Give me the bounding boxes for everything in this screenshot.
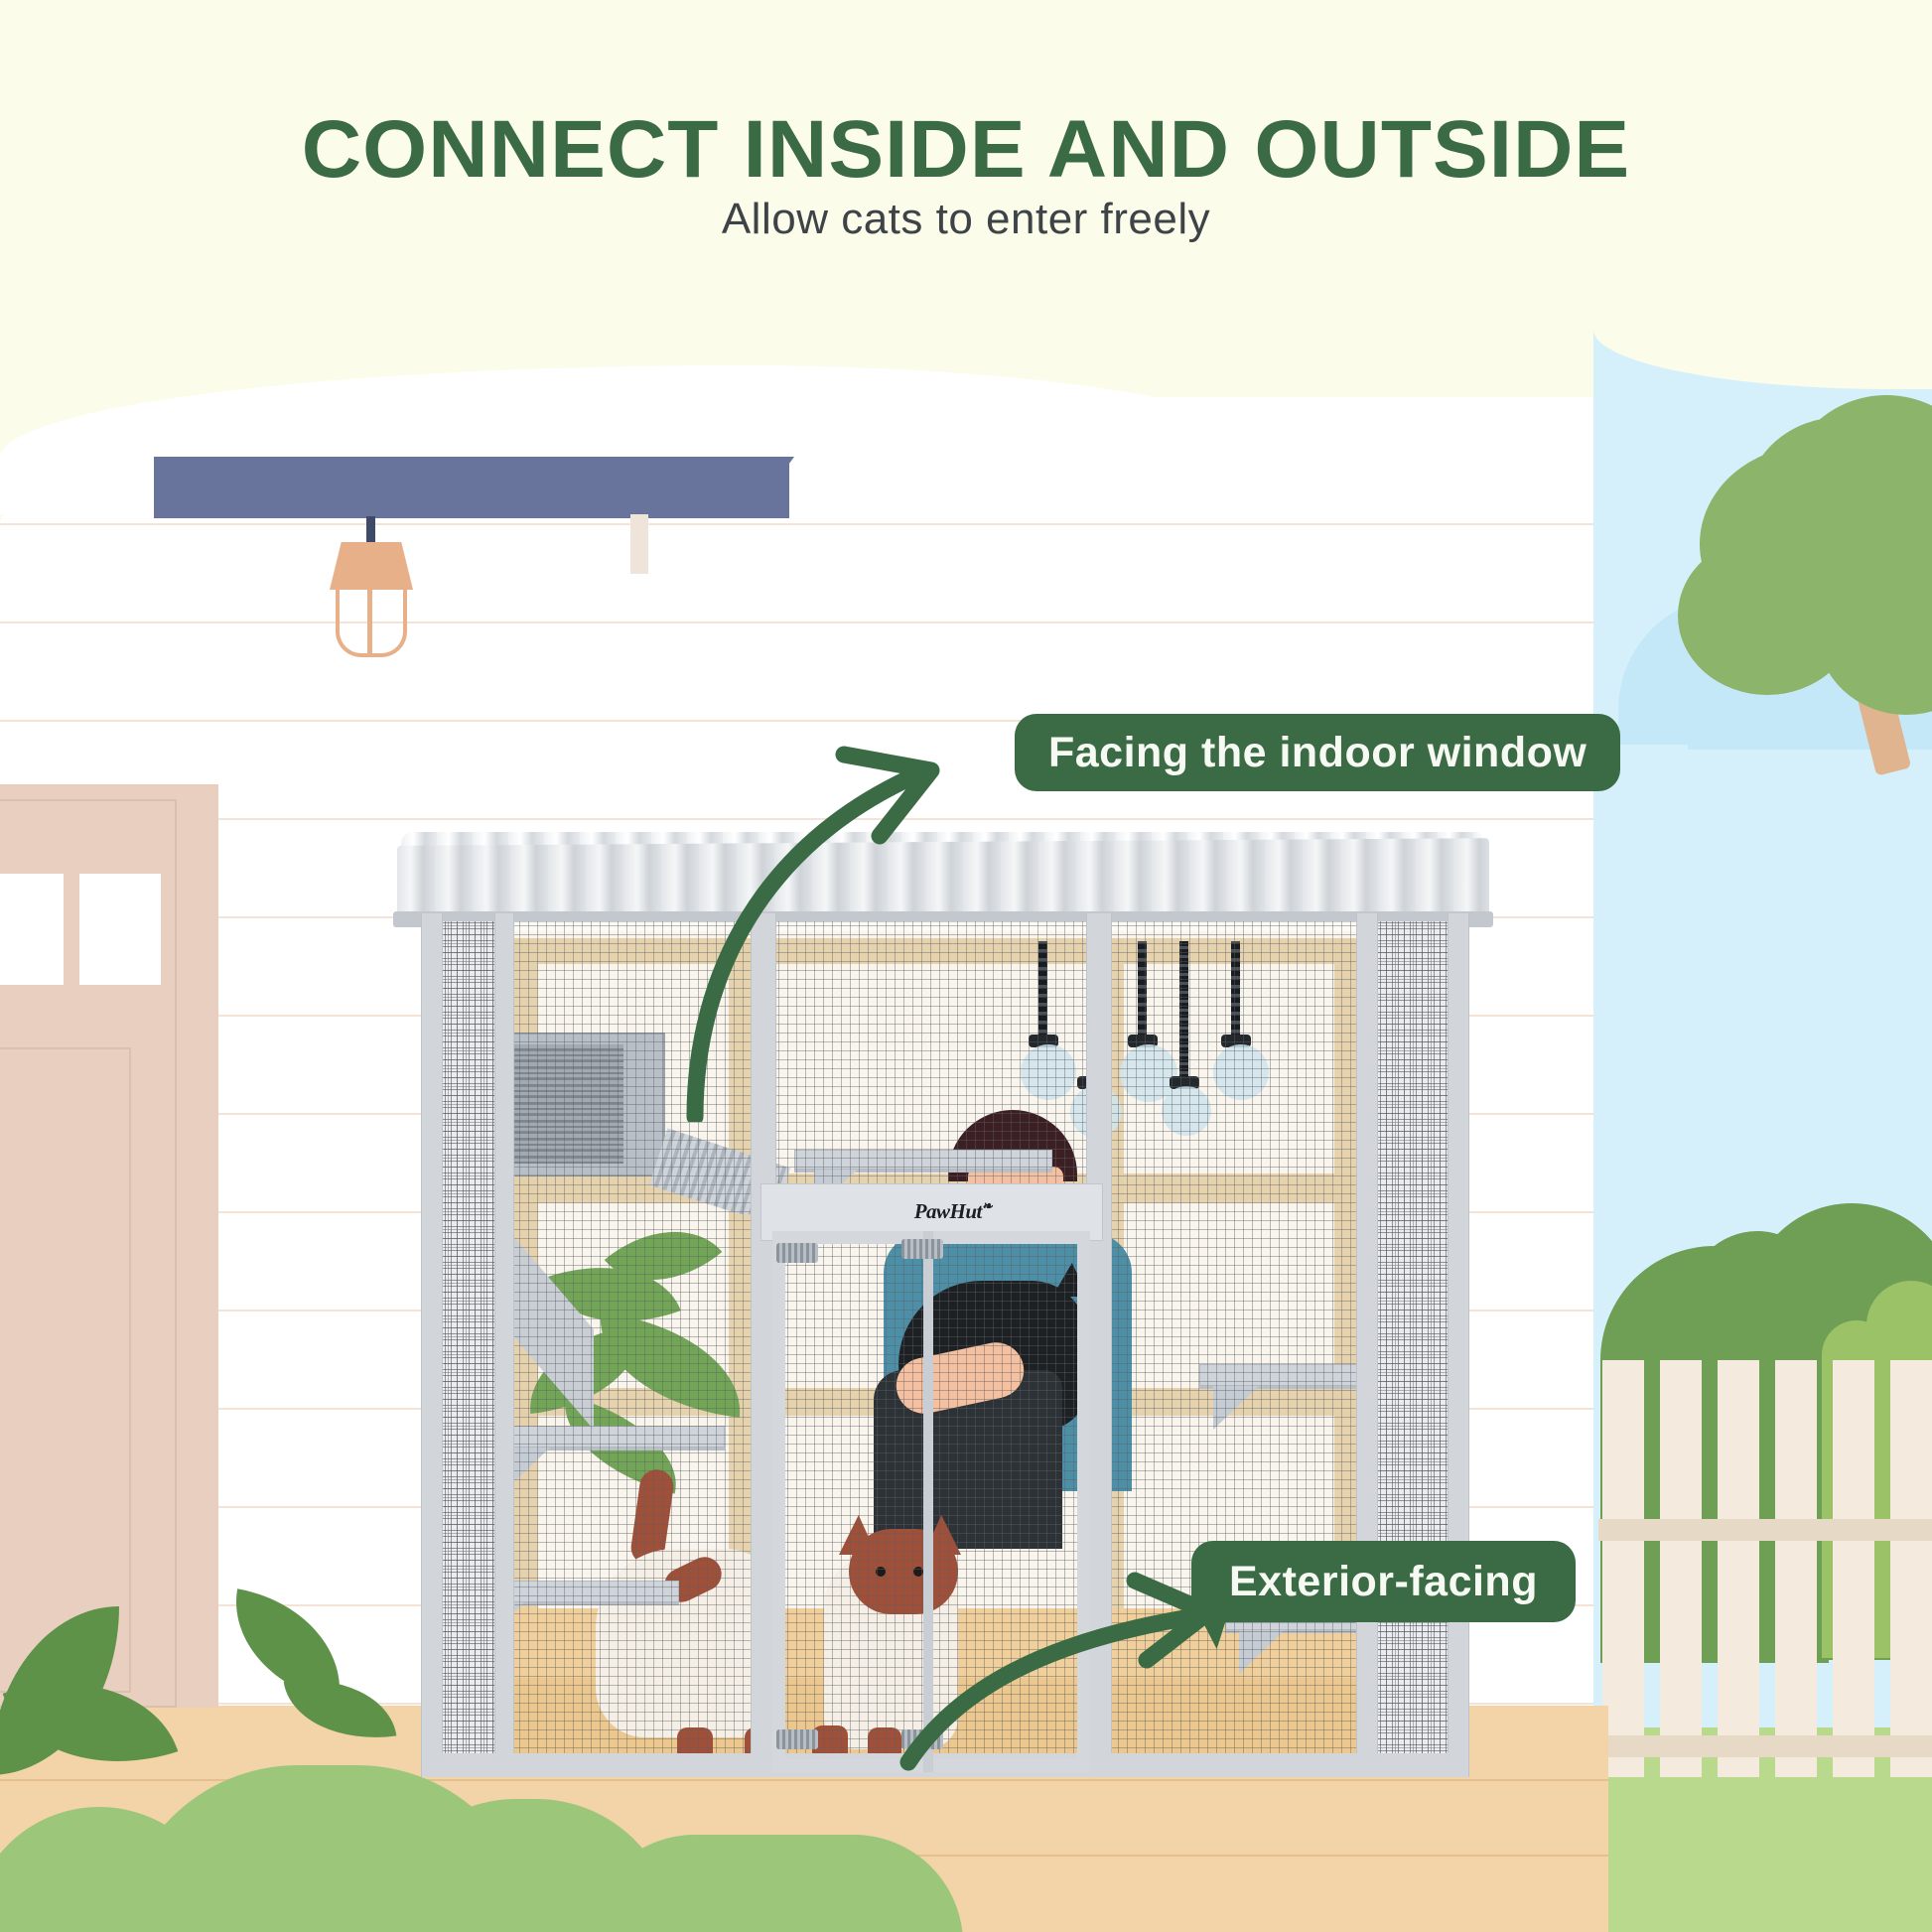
door-latch[interactable] xyxy=(901,1239,943,1259)
door-hinge xyxy=(776,1243,818,1263)
fence-picket xyxy=(1775,1360,1817,1777)
fence-rail xyxy=(1598,1735,1932,1757)
perch-shelf xyxy=(794,1150,1052,1170)
picket-fence xyxy=(1598,1360,1932,1777)
marketing-image: PawHut❧ CONNECT INSIDE AND OUTSIDE Allow… xyxy=(0,0,1932,1932)
curved-arrow-down-left-icon xyxy=(898,1569,1226,1777)
frame-post xyxy=(1448,913,1469,1775)
paw-print-icon: ❧ xyxy=(982,1198,992,1213)
fence-picket xyxy=(1833,1360,1874,1777)
ac-grill xyxy=(506,1044,623,1164)
fence-picket xyxy=(1660,1360,1702,1777)
perch-shelf xyxy=(486,1426,725,1448)
toy-cord xyxy=(1231,941,1240,1038)
fence-picket xyxy=(1890,1360,1932,1777)
page-subtitle: Allow cats to enter freely xyxy=(0,195,1932,244)
hanging-toy-ball[interactable] xyxy=(1162,1086,1211,1136)
callout-badge-indoor: Facing the indoor window xyxy=(1015,714,1620,791)
beam-post xyxy=(630,514,648,574)
fence-picket xyxy=(1602,1360,1644,1777)
foreground-shrub xyxy=(586,1835,963,1932)
brand-name: PawHut xyxy=(914,1199,982,1223)
brand-logo: PawHut❧ xyxy=(894,1198,1013,1224)
toy-cord xyxy=(1138,941,1147,1038)
fence-rail xyxy=(1598,1519,1932,1541)
hanging-toy-ball[interactable] xyxy=(1213,1044,1269,1100)
door-panel xyxy=(0,1047,131,1693)
door-hinge xyxy=(776,1729,818,1749)
toy-cord xyxy=(1179,941,1188,1080)
frame-post xyxy=(1356,913,1378,1775)
frame-post xyxy=(421,913,443,1775)
frame-post xyxy=(494,913,514,1775)
pendant-lamp-icon xyxy=(330,542,413,590)
door-window-pane xyxy=(79,874,161,985)
door-window-pane xyxy=(0,874,64,985)
fence-picket xyxy=(1718,1360,1759,1777)
page-title: CONNECT INSIDE AND OUTSIDE xyxy=(0,103,1932,197)
lamp-cage-bar xyxy=(367,588,372,655)
callout-badge-exterior: Exterior-facing xyxy=(1191,1541,1576,1622)
